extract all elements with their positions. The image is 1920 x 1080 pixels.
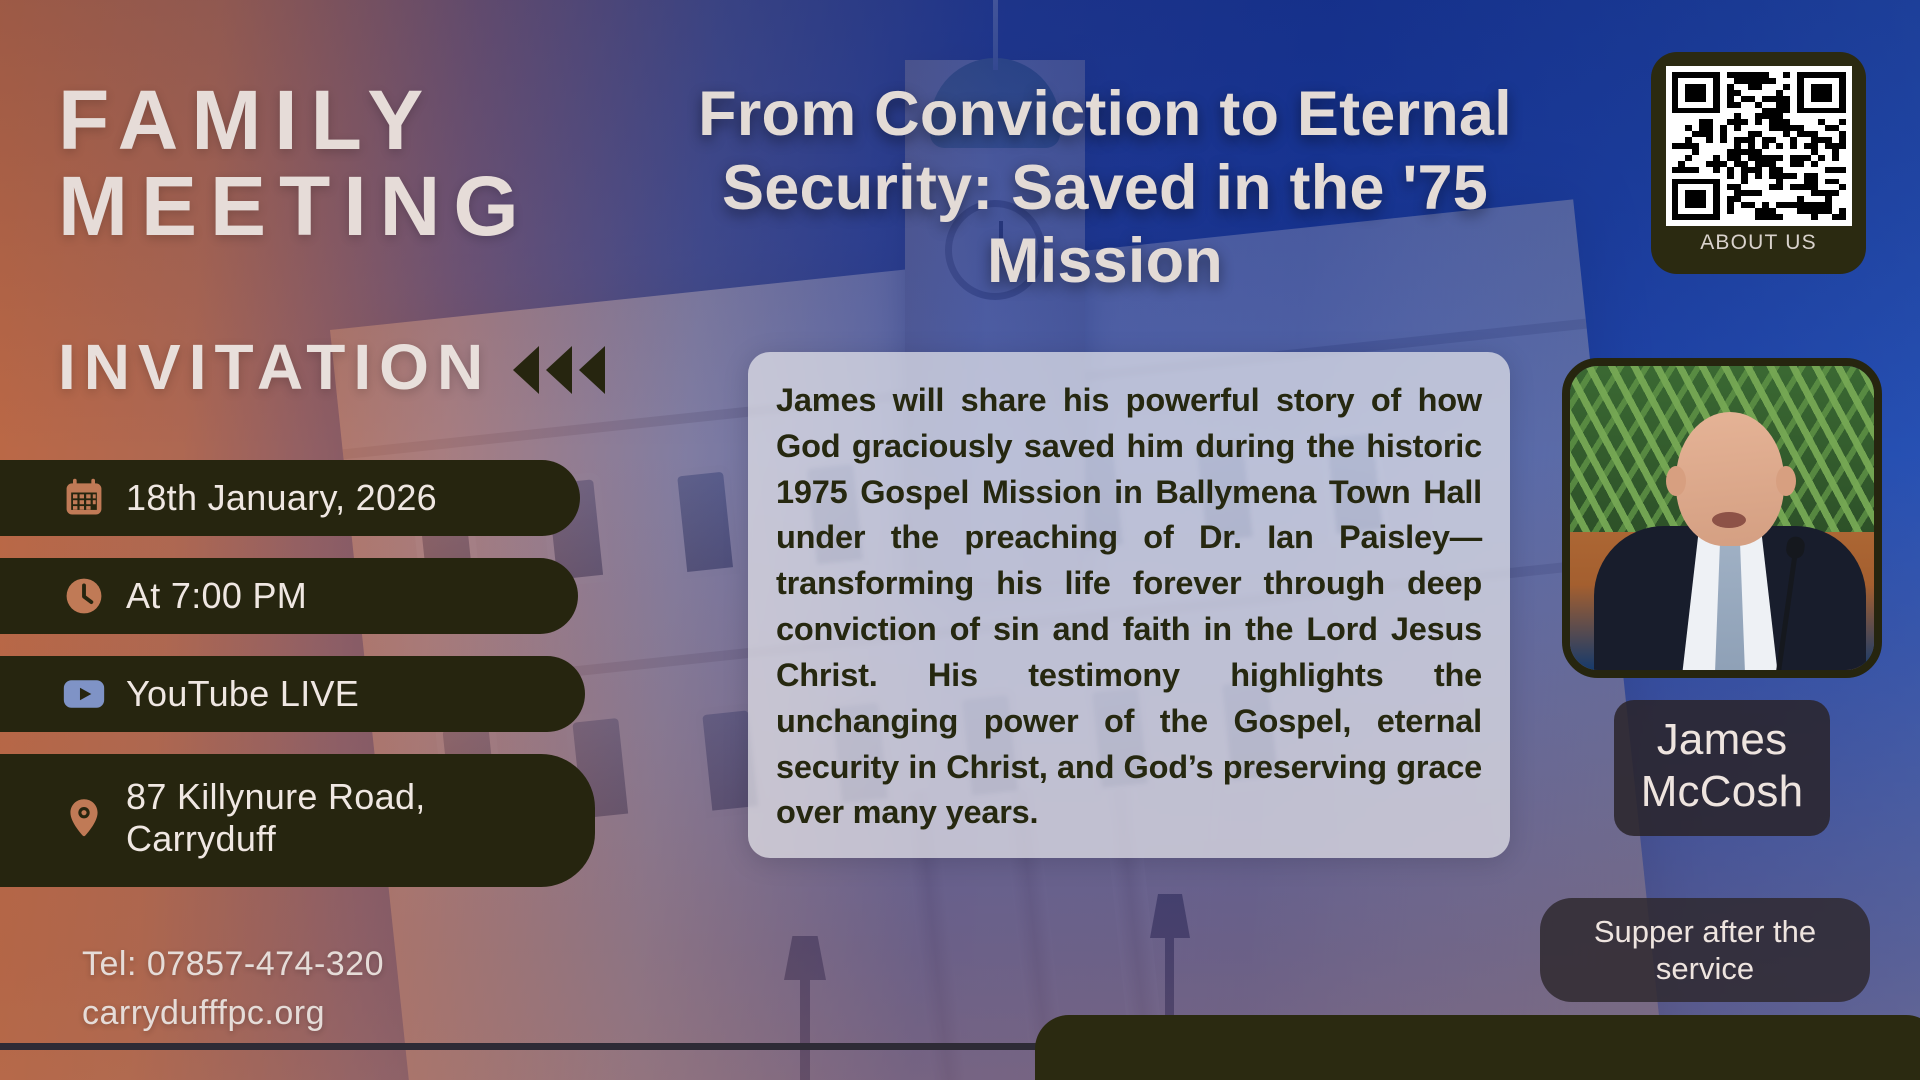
detail-label-stream: YouTube LIVE	[126, 673, 359, 715]
youtube-icon	[62, 672, 106, 716]
contact-block: Tel: 07857-474-320 carrydufffpc.org	[82, 940, 384, 1039]
website-url[interactable]: carrydufffpc.org	[82, 989, 384, 1038]
detail-label-time: At 7:00 PM	[126, 575, 307, 617]
qr-code-icon[interactable]	[1666, 66, 1852, 226]
invitation-row: INVITATION	[58, 330, 605, 404]
description-panel: James will share his powerful story of h…	[748, 352, 1510, 858]
detail-label-location: 87 Killynure Road, Carryduff	[126, 776, 561, 861]
location-pin-icon	[62, 796, 106, 840]
headline-block: FAMILY MEETING	[58, 78, 678, 249]
bottom-accent-bar	[1035, 1015, 1920, 1080]
supper-note: Supper after the service	[1540, 898, 1870, 1002]
speaker-name-line-2: McCosh	[1626, 766, 1818, 818]
headline-line-2: MEETING	[58, 164, 678, 250]
detail-item-location: 87 Killynure Road, Carryduff	[0, 754, 595, 887]
detail-item-date: 18th January, 2026	[0, 460, 580, 536]
qr-label: ABOUT US	[1700, 231, 1817, 255]
description-text: James will share his powerful story of h…	[776, 378, 1482, 836]
detail-item-time: At 7:00 PM	[0, 558, 578, 634]
detail-label-date: 18th January, 2026	[126, 477, 437, 519]
invitation-label: INVITATION	[58, 330, 491, 404]
detail-item-stream: YouTube LIVE	[0, 656, 585, 732]
speaker-photo	[1562, 358, 1882, 678]
speaker-name-card: James McCosh	[1614, 700, 1830, 836]
page-title: From Conviction to Eternal Security: Sav…	[640, 78, 1570, 299]
about-us-qr-card[interactable]: ABOUT US	[1651, 52, 1866, 274]
calendar-icon	[62, 476, 106, 520]
speaker-name-line-1: James	[1626, 714, 1818, 766]
event-details-list: 18th January, 2026 At 7:00 PM YouTube LI…	[0, 460, 760, 909]
event-poster: FAMILY MEETING INVITATION 18th January, …	[0, 0, 1920, 1080]
phone-number: Tel: 07857-474-320	[82, 940, 384, 989]
triple-left-arrow-icon	[513, 346, 605, 394]
bottom-divider-line	[0, 1043, 1050, 1050]
clock-icon	[62, 574, 106, 618]
headline-line-1: FAMILY	[58, 78, 678, 164]
